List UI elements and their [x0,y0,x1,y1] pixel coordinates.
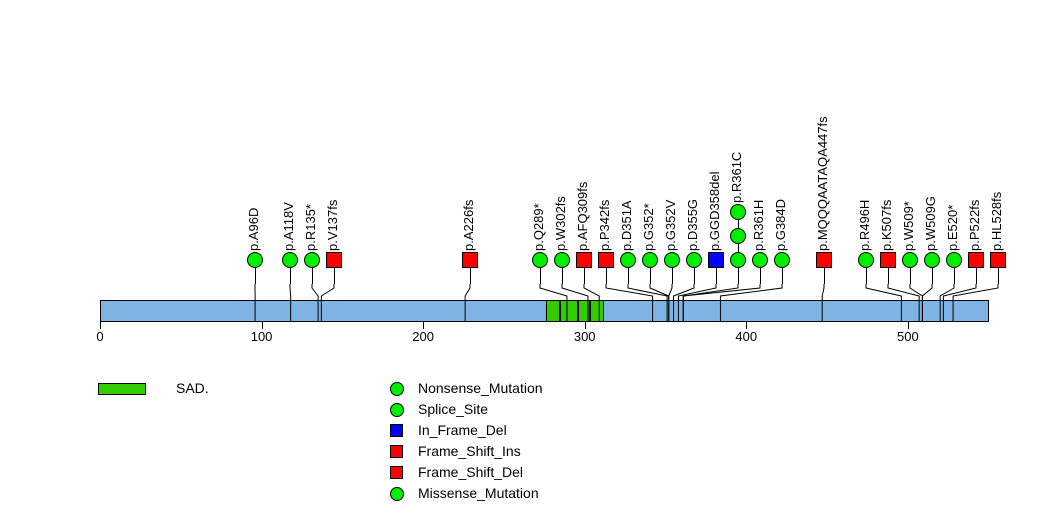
mutation-marker[interactable] [554,252,570,268]
mutation-marker[interactable] [730,204,746,220]
mutation-label: p.AFQ309fs [576,182,589,251]
mutation-marker[interactable] [752,252,768,268]
axis-tick-label: 0 [96,330,103,343]
legend-swatch-square [390,466,403,479]
mutation-marker[interactable] [686,252,702,268]
legend-swatch-circle [390,487,404,501]
mutation-marker[interactable] [946,252,962,268]
mutation-marker[interactable] [282,252,298,268]
legend-label-domain: SAD. [176,378,209,399]
protein-domain-sad[interactable] [560,300,578,322]
legend-label-mutation-type: Frame_Shift_Ins [418,441,521,462]
protein-domain-sad[interactable] [546,300,561,322]
mutation-marker[interactable] [774,252,790,268]
mutation-marker[interactable] [532,252,548,268]
mutation-marker[interactable] [620,252,636,268]
legend-label-mutation-type: Frame_Shift_Del [418,462,523,483]
legend-swatch-circle [390,382,404,396]
legend-label-mutation-type: Missense_Mutation [418,483,539,504]
axis-tick-label: 100 [251,330,273,343]
mutation-label: p.R361H [752,200,765,251]
mutation-label: p.A96D [247,208,260,251]
mutation-label: p.HL528fs [990,192,1003,251]
mutation-label: p.R496H [858,200,871,251]
mutation-label: p.P522fs [968,200,981,251]
mutation-label: p.GGD358del [708,172,721,252]
mutation-label: p.G384D [774,199,787,251]
mutation-label: p.W302fs [554,196,567,251]
mutation-label: p.E520* [946,205,959,251]
axis-tick [423,322,424,329]
mutation-marker[interactable] [730,252,746,268]
mutation-marker[interactable] [990,252,1006,268]
domain-swatch [98,383,146,395]
mutation-label: p.W509G [924,196,937,251]
axis-tick-label: 500 [897,330,919,343]
mutation-label: p.V137fs [326,200,339,251]
mutation-label: p.A118V [282,202,295,251]
mutation-label: p.D351A [620,200,633,251]
legend-label-mutation-type: Nonsense_Mutation [418,378,543,399]
axis-tick [100,322,101,329]
mutation-label: p.P342fs [598,200,611,251]
protein-bar [100,300,989,322]
lollipop-plot: p.A96Dp.A118Vp.R135*p.V137fsp.A226fsp.Q2… [0,0,1047,524]
mutation-label: p.G352V [664,200,677,251]
legend-swatch-square [390,424,403,437]
mutation-marker[interactable] [880,252,896,268]
mutation-label: p.Q289* [532,203,545,251]
mutation-marker[interactable] [326,252,342,268]
axis-tick [746,322,747,329]
axis-tick [585,322,586,329]
mutation-marker[interactable] [576,252,592,268]
mutation-marker[interactable] [708,252,724,268]
legend-label-mutation-type: In_Frame_Del [418,420,507,441]
mutation-marker[interactable] [924,252,940,268]
mutation-label: p.A226fs [462,200,475,251]
mutation-marker[interactable] [968,252,984,268]
lollipop-stem [738,212,739,284]
axis-tick-label: 200 [412,330,434,343]
mutation-marker[interactable] [642,252,658,268]
mutation-marker[interactable] [664,252,680,268]
axis-tick [908,322,909,329]
mutation-marker[interactable] [304,252,320,268]
axis-tick-label: 300 [574,330,596,343]
mutation-marker[interactable] [598,252,614,268]
mutation-label: p.D355G [686,199,699,251]
mutation-label: p.R361C [730,152,743,203]
mutation-marker[interactable] [816,252,832,268]
legend-swatch-square [390,445,403,458]
mutation-marker[interactable] [247,252,263,268]
mutation-label: p.G352* [642,203,655,251]
protein-domain-sad[interactable] [578,300,589,322]
mutation-marker[interactable] [858,252,874,268]
legend-swatch-circle [390,403,404,417]
axis-tick-label: 400 [735,330,757,343]
mutation-label: p.K507fs [880,200,893,251]
mutation-marker[interactable] [730,228,746,244]
mutation-marker[interactable] [462,252,478,268]
mutation-label: p.W509* [902,201,915,251]
mutation-label: p.MQQQAATAQA447fs [816,116,829,251]
legend-label-mutation-type: Splice_Site [418,399,488,420]
protein-domain-sad[interactable] [590,300,605,322]
mutation-label: p.R135* [304,204,317,251]
axis-tick [262,322,263,329]
mutation-marker[interactable] [902,252,918,268]
